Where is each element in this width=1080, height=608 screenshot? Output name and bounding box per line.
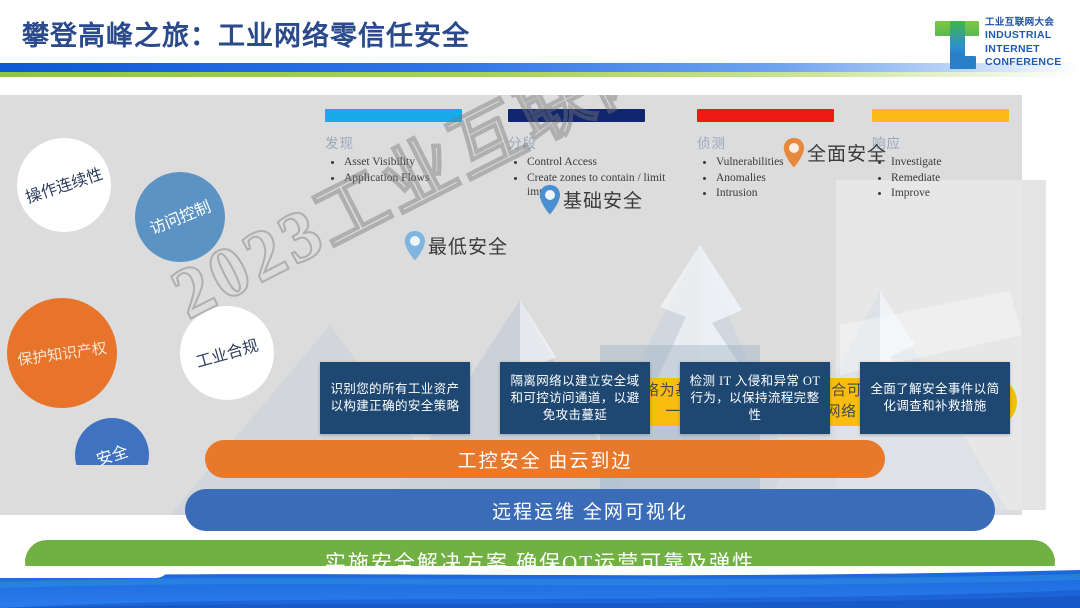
summary-bar-remote-ops: 远程运维 全网可视化 (185, 489, 995, 531)
slide-footer (0, 566, 1080, 608)
slide-body: 操作连续性 访问控制 保护知识产权 工业合规 安全 发现 (0, 95, 1080, 575)
phase-bar (697, 109, 834, 122)
maturity-pin-minimum: 最低安全 (404, 231, 508, 260)
header-rule-blue (0, 63, 1080, 72)
logo-line-internet: INTERNET (985, 43, 1071, 57)
capability-box-text: 全面了解安全事件以简化调查和补救措施 (860, 381, 1010, 415)
maturity-pin-label: 最低安全 (428, 232, 508, 259)
conference-logo: 工业互联网大会 INDUSTRIAL INTERNET CONFERENCE (935, 16, 1070, 76)
phase-item-list: Investigate Remediate Improve (872, 155, 1032, 201)
capability-box-text: 识别您的所有工业资产以构建正确的安全策略 (320, 381, 470, 415)
maturity-pin-label: 全面安全 (807, 139, 887, 166)
page-title: 攀登高峰之旅：工业网络零信任安全 (22, 14, 470, 53)
footer-notch (0, 566, 170, 578)
logo-mark-icon (935, 18, 979, 72)
bubble-protect-ip: 保护知识产权 (7, 298, 117, 408)
phase-column-discover: 发现 Asset Visibility Application Flows (325, 109, 485, 186)
logo-chinese-name: 工业互联网大会 (985, 16, 1071, 29)
capability-box-text: 检测 IT 入侵和异常 OT 行为，以保持流程完整性 (680, 373, 830, 424)
phase-bar (872, 109, 1009, 122)
list-item: Anomalies (697, 171, 857, 186)
bubble-cluster: 操作连续性 访问控制 保护知识产权 工业合规 安全 (0, 125, 330, 465)
logo-line-conference: CONFERENCE (985, 56, 1071, 70)
slide-root: 攀登高峰之旅：工业网络零信任安全 (0, 0, 1080, 608)
phase-heading: 分段 (508, 132, 668, 152)
capability-box-text: 隔离网络以建立安全域和可控访问通道，以避免攻击蔓延 (500, 373, 650, 424)
phase-heading: 发现 (325, 132, 485, 152)
bubble-operational-continuity: 操作连续性 (17, 138, 111, 232)
slide-header: 攀登高峰之旅：工业网络零信任安全 (0, 0, 1080, 95)
summary-bar-label: 工控安全 由云到边 (458, 446, 633, 473)
capability-box-segment: 隔离网络以建立安全域和可控访问通道，以避免攻击蔓延 (500, 362, 650, 434)
capability-box-detect: 检测 IT 入侵和异常 OT 行为，以保持流程完整性 (680, 362, 830, 434)
capability-box-respond: 全面了解安全事件以简化调查和补救措施 (860, 362, 1010, 434)
phase-bar (508, 109, 645, 122)
phase-item-list: Asset Visibility Application Flows (325, 155, 485, 185)
list-item: Remediate (872, 171, 1032, 186)
map-pin-icon (539, 185, 561, 214)
logo-text-block: 工业互联网大会 INDUSTRIAL INTERNET CONFERENCE (985, 16, 1071, 70)
maturity-pin-basic: 基础安全 (539, 185, 643, 214)
list-item: Intrusion (697, 186, 857, 201)
logo-line-industrial: INDUSTRIAL (985, 29, 1071, 43)
list-item: Asset Visibility (325, 155, 485, 170)
list-item: Improve (872, 186, 1032, 201)
map-pin-icon (783, 138, 805, 167)
bubble-access-control: 访问控制 (135, 172, 225, 262)
phase-heading: 响应 (872, 132, 1032, 152)
maturity-pin-comprehensive: 全面安全 (783, 138, 887, 167)
bubble-industrial-compliance: 工业合规 (180, 306, 274, 400)
maturity-pin-label: 基础安全 (563, 186, 643, 213)
header-rule-green (0, 72, 1080, 77)
list-item: Control Access (508, 155, 668, 170)
capability-box-identify: 识别您的所有工业资产以构建正确的安全策略 (320, 362, 470, 434)
phase-column-respond: 响应 Investigate Remediate Improve (872, 109, 1032, 202)
map-pin-icon (404, 231, 426, 260)
summary-bar-ics-security: 工控安全 由云到边 (205, 440, 885, 478)
bubble-safety: 安全 (75, 418, 149, 465)
list-item: Application Flows (325, 171, 485, 186)
summary-bar-label: 远程运维 全网可视化 (492, 497, 688, 524)
phase-bar (325, 109, 462, 122)
list-item: Investigate (872, 155, 1032, 170)
